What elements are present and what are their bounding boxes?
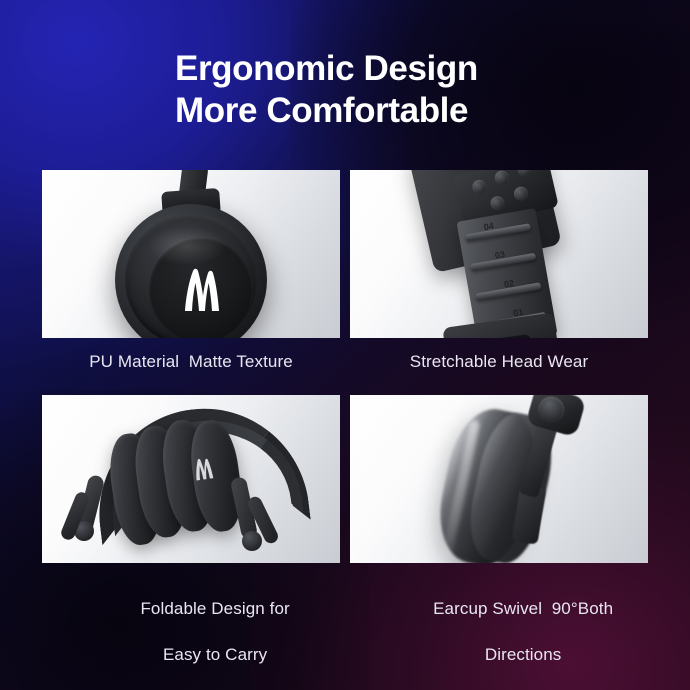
photo-stretchable-headband: 04 03 02 01 — [350, 170, 648, 338]
caption-line-2: Easy to Carry — [163, 645, 267, 664]
slider-mark-02: 02 — [503, 278, 515, 290]
earcup-ring — [125, 214, 257, 338]
feature-grid: PU Material Matte Texture 04 — [42, 170, 648, 689]
pad-dot — [489, 195, 506, 212]
caption-foldable-design: Foldable Design for Easy to Carry — [42, 563, 340, 689]
maono-m-logo-icon — [190, 456, 215, 483]
feature-cell-earcup-swivel: Earcup Swivel 90°Both Directions — [350, 395, 648, 689]
earcup-outer — [115, 204, 267, 338]
feature-cell-stretchable-headband: 04 03 02 01 Stretchable Head Wear — [350, 170, 648, 373]
caption-line-2: Directions — [485, 645, 562, 664]
feature-cell-pu-material: PU Material Matte Texture — [42, 170, 340, 373]
caption-earcup-swivel: Earcup Swivel 90°Both Directions — [350, 563, 648, 689]
feature-row-top: PU Material Matte Texture 04 — [42, 170, 648, 373]
fork-opening — [465, 334, 536, 338]
photo-foldable-design — [42, 395, 340, 563]
slider-mark-03: 03 — [494, 249, 506, 261]
pad-dot — [493, 170, 510, 186]
title-line-2: More Comfortable — [175, 90, 645, 132]
pad-dot — [516, 170, 533, 178]
row-spacer — [42, 373, 648, 395]
caption-line-1: Earcup Swivel 90°Both — [433, 599, 613, 618]
photo-pu-material — [42, 170, 340, 338]
slider-notch — [465, 223, 531, 241]
photo-earcup-swivel — [350, 395, 648, 563]
right-hinge-ball — [242, 531, 262, 551]
maono-m-logo-icon — [179, 267, 223, 313]
caption-pu-material: PU Material Matte Texture — [42, 338, 340, 373]
product-feature-image: Ergonomic Design More Comfortable — [0, 0, 690, 690]
caption-line-1: Foldable Design for — [140, 599, 289, 618]
earcup-highlight — [147, 226, 227, 266]
slider-mark-04: 04 — [483, 221, 495, 233]
swivel-knob-center — [535, 395, 567, 426]
pad-dot — [471, 178, 488, 195]
caption-stretchable-headband: Stretchable Head Wear — [350, 338, 648, 373]
feature-row-bottom: Foldable Design for Easy to Carry Earcu — [42, 395, 648, 689]
title-line-1: Ergonomic Design — [175, 48, 645, 90]
page-title: Ergonomic Design More Comfortable — [175, 48, 645, 132]
pad-dot — [513, 185, 530, 202]
feature-cell-foldable-design: Foldable Design for Easy to Carry — [42, 395, 340, 689]
